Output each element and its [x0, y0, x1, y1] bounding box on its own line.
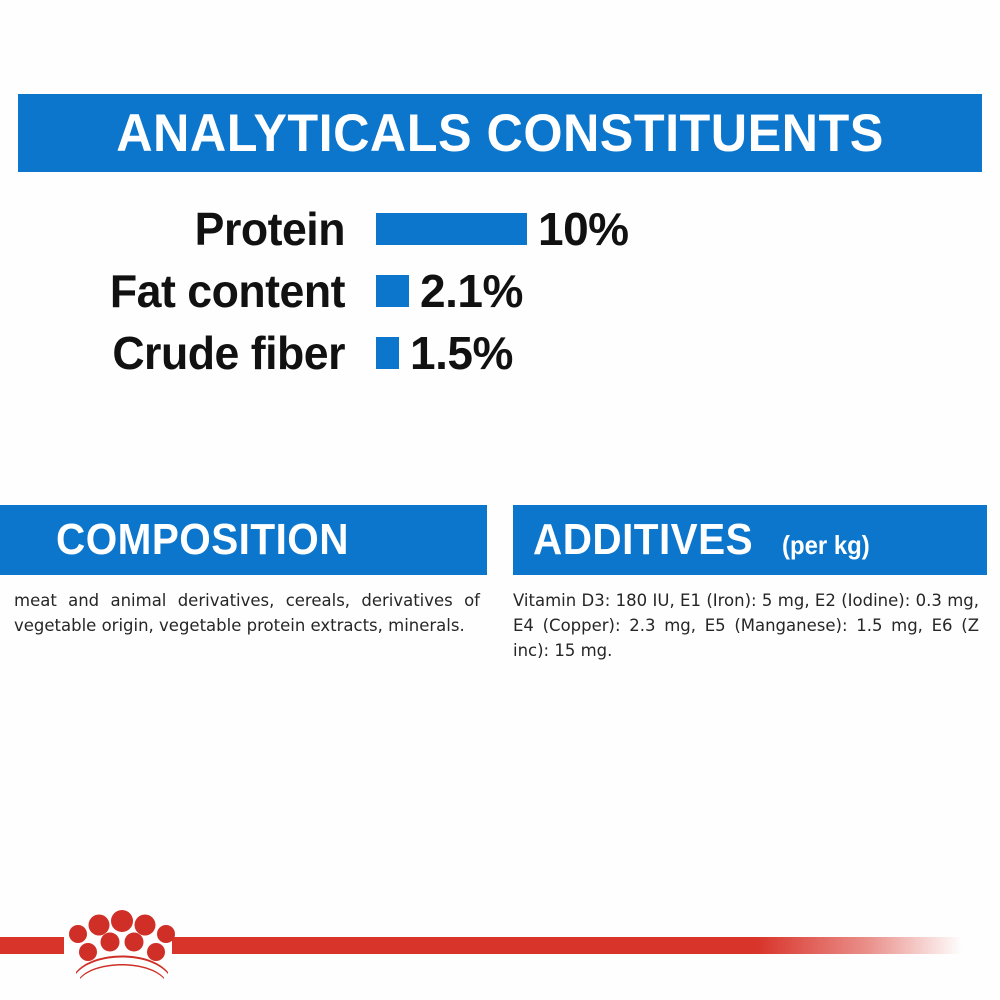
analyticals-chart: Protein 10% Fat content 2.1% Crude fiber…	[0, 198, 1000, 384]
nutrient-row: Crude fiber 1.5%	[0, 322, 1000, 384]
analyticals-banner-title: ANALYTICALS CONSTITUENTS	[116, 107, 884, 160]
nutrient-bar-crude-fiber	[376, 337, 399, 369]
nutrient-value-protein: 10%	[538, 206, 629, 252]
analyticals-banner: ANALYTICALS CONSTITUENTS	[18, 94, 982, 172]
nutrient-label-fat-content: Fat content	[10, 268, 345, 314]
nutrient-bar-group-protein: 10%	[376, 206, 629, 252]
nutrient-label-crude-fiber: Crude fiber	[10, 330, 345, 376]
additives-banner-subtitle: (per kg)	[782, 532, 870, 558]
royal-canin-crown-icon	[66, 908, 178, 980]
nutrient-label-protein: Protein	[10, 206, 345, 252]
nutrient-row: Protein 10%	[0, 198, 1000, 260]
nutrient-bar-fat-content	[376, 275, 409, 307]
composition-banner: COMPOSITION	[0, 505, 487, 575]
nutrient-value-fat-content: 2.1%	[420, 268, 523, 314]
composition-banner-title: COMPOSITION	[56, 518, 349, 562]
nutrient-bar-group-crude-fiber: 1.5%	[376, 330, 513, 376]
additives-text: Vitamin D3: 180 IU, E1 (Iron): 5 mg, E2 …	[513, 588, 979, 663]
nutrient-value-crude-fiber: 1.5%	[410, 330, 513, 376]
nutrient-row: Fat content 2.1%	[0, 260, 1000, 322]
brand-footer	[0, 890, 1000, 1000]
composition-text: meat and animal derivatives, cereals, de…	[14, 588, 480, 638]
nutrient-bar-group-fat-content: 2.1%	[376, 268, 523, 314]
footer-rule-right	[172, 937, 962, 954]
additives-banner-title: ADDITIVES	[533, 518, 753, 562]
additives-banner: ADDITIVES (per kg)	[513, 505, 987, 575]
footer-rule-left	[0, 937, 64, 954]
nutrient-bar-protein	[376, 213, 527, 245]
product-label-panel: ANALYTICALS CONSTITUENTS Protein 10% Fat…	[0, 0, 1000, 1000]
